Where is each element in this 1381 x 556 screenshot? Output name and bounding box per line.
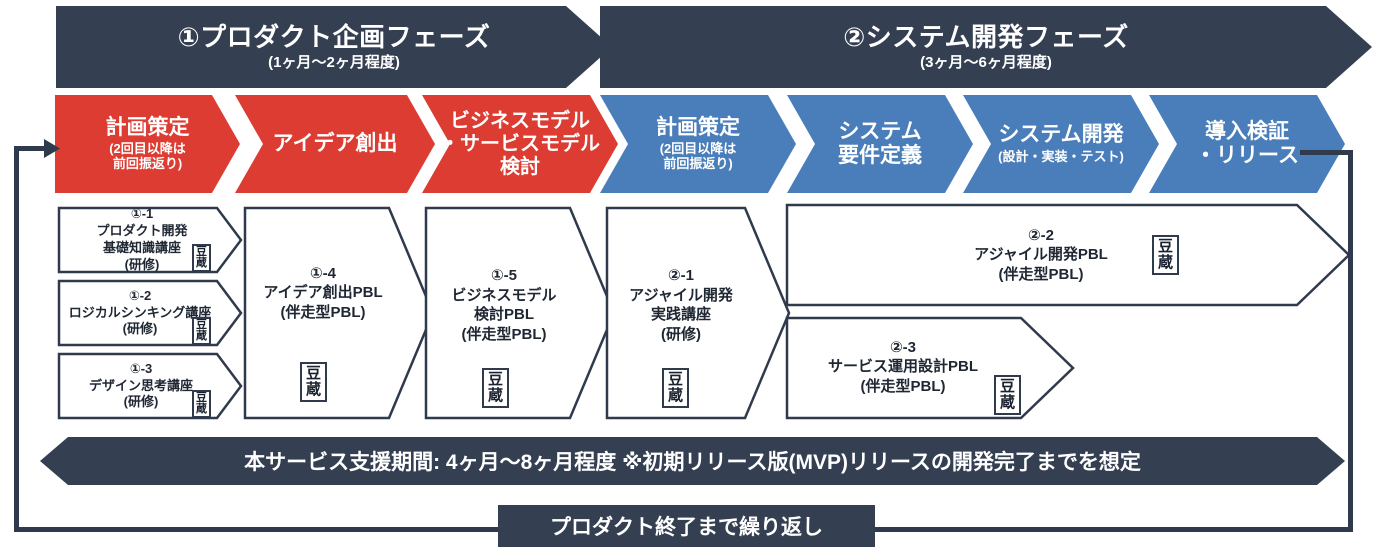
pbl-2-1-vendor-logo: 豆 蔵: [662, 368, 689, 408]
vendor-logo-char-top: 豆: [668, 372, 683, 388]
support-period-label: 本サービス支援期間: 4ヶ月～8ヶ月程度 ※初期リリース版(MVP)リリースの開…: [244, 446, 1141, 476]
course-1-3-vendor-logo: 豆 蔵: [192, 390, 211, 418]
pbl-1-4-shape[interactable]: [243, 206, 435, 420]
course-1-1-vendor-logo: 豆 蔵: [192, 244, 211, 272]
loop-path-left: [14, 146, 19, 532]
pbl-1-5-vendor-logo: 豆 蔵: [482, 368, 509, 408]
pbl-1-4-vendor-logo: 豆 蔵: [300, 362, 327, 402]
phase-banner-1-title: ①プロダクト企画フェーズ: [178, 22, 491, 53]
step-planning-2-sub1: (2回目以降は: [660, 142, 737, 157]
step-business-model[interactable]: ビジネスモデル ・サービスモデル 検討: [422, 95, 618, 193]
course-1-1-shape[interactable]: [57, 206, 243, 274]
vendor-logo-char-top: 豆: [1158, 239, 1173, 255]
phase-banner-2-title: ②システム開発フェーズ: [843, 22, 1128, 53]
step-planning-1-sub2: 前回振返り): [113, 157, 182, 172]
course-1-2-vendor-logo: 豆 蔵: [192, 317, 211, 345]
step-business-model-line2: ・サービスモデル: [440, 133, 600, 156]
step-planning-1-sub1: (2回目以降は: [109, 142, 186, 157]
pbl-2-3-vendor-logo: 豆 蔵: [994, 375, 1021, 415]
step-system-development[interactable]: システム開発 (設計・実装・テスト): [963, 95, 1159, 193]
vendor-logo-char-bottom: 蔵: [1000, 395, 1015, 411]
step-deployment-release[interactable]: 導入検証 ・リリース: [1149, 95, 1345, 193]
phase-banner-2-duration: (3ヶ月～6ヶ月程度): [920, 54, 1052, 72]
step-deployment-release-line2: ・リリース: [1195, 144, 1299, 168]
step-planning-2[interactable]: 計画策定 (2回目以降は 前回振返り): [600, 95, 796, 193]
step-system-requirements-line2: 要件定義: [838, 144, 922, 168]
vendor-logo-char-bottom: 蔵: [196, 258, 207, 269]
step-planning-1[interactable]: 計画策定 (2回目以降は 前回振返り): [55, 95, 240, 193]
pbl-2-1-shape[interactable]: [605, 206, 791, 420]
step-business-model-line1: ビジネスモデル: [450, 110, 590, 133]
vendor-logo-char-bottom: 蔵: [1158, 255, 1173, 271]
repeat-loop-text: プロダクト終了まで繰り返し: [550, 511, 823, 541]
diagram-canvas: ①プロダクト企画フェーズ (1ヶ月～2ヶ月程度) ②システム開発フェーズ (3ヶ…: [0, 0, 1381, 556]
step-business-model-line3: 検討: [500, 156, 540, 179]
support-period-bar: 本サービス支援期間: 4ヶ月～8ヶ月程度 ※初期リリース版(MVP)リリースの開…: [40, 437, 1345, 485]
vendor-logo-char-bottom: 蔵: [196, 331, 207, 342]
pbl-2-2-vendor-logo: 豆 蔵: [1152, 235, 1179, 275]
phase-banner-2: ②システム開発フェーズ (3ヶ月～6ヶ月程度): [600, 6, 1372, 88]
step-system-requirements[interactable]: システム 要件定義: [787, 95, 973, 193]
phase-banner-1-duration: (1ヶ月～2ヶ月程度): [268, 54, 400, 72]
course-1-2-shape[interactable]: [57, 279, 243, 347]
step-planning-2-title: 計画策定: [656, 116, 740, 140]
step-planning-2-sub2: 前回振返り): [663, 157, 732, 172]
step-system-development-line1: システム開発: [998, 123, 1123, 147]
vendor-logo-char-bottom: 蔵: [488, 388, 503, 404]
pbl-1-5-shape[interactable]: [424, 206, 616, 420]
vendor-logo-char-top: 豆: [306, 366, 321, 382]
loop-path-top-right: [1300, 150, 1353, 155]
vendor-logo-char-top: 豆: [1000, 379, 1015, 395]
course-1-3-shape[interactable]: [57, 352, 243, 420]
pbl-2-2-shape[interactable]: [785, 203, 1351, 308]
vendor-logo-char-bottom: 蔵: [668, 388, 683, 404]
vendor-logo-char-top: 豆: [488, 372, 503, 388]
vendor-logo-char-bottom: 蔵: [196, 404, 207, 415]
loop-path-top-left: [14, 146, 48, 151]
loop-path-right: [1348, 150, 1353, 532]
pbl-2-3-shape[interactable]: [785, 316, 1075, 421]
repeat-loop-label: プロダクト終了まで繰り返し: [498, 505, 875, 547]
step-planning-1-title: 計画策定: [106, 116, 190, 140]
step-deployment-release-line1: 導入検証: [1205, 120, 1289, 144]
vendor-logo-char-bottom: 蔵: [306, 382, 321, 398]
phase-banner-1: ①プロダクト企画フェーズ (1ヶ月～2ヶ月程度): [56, 6, 612, 88]
step-idea-creation-title: アイデア創出: [273, 132, 398, 156]
step-system-development-sub1: (設計・実装・テスト): [998, 150, 1124, 165]
step-system-requirements-line1: システム: [838, 120, 921, 144]
step-idea-creation[interactable]: アイデア創出: [235, 95, 435, 193]
